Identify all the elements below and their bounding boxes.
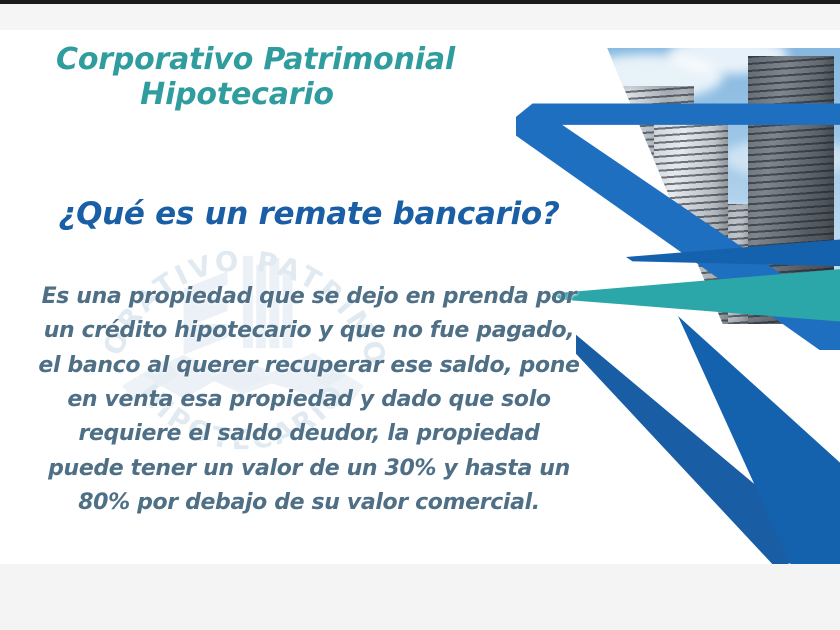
cloud-shape: [539, 114, 649, 148]
cloud-shape: [573, 54, 723, 100]
top-gutter: [0, 4, 840, 30]
building-tower: [748, 56, 834, 324]
body-line: puede tener un valor de un 30% y hasta u…: [6, 452, 612, 486]
diagonal-band-blue-upper: [626, 230, 840, 284]
headline-question: ¿Qué es un remate bancario?: [0, 196, 618, 232]
cloud-shape: [628, 204, 788, 252]
body-paragraph: Es una propiedad que se dejo en prenda p…: [6, 280, 612, 520]
image-viewer: CORPORATIVO PATRIMONIAL HIPOTECARIO Corp…: [0, 0, 840, 630]
promotional-flyer: CORPORATIVO PATRIMONIAL HIPOTECARIO Corp…: [0, 30, 840, 564]
brand-name: Corporativo Patrimonial Hipotecario: [52, 42, 522, 112]
body-line: un crédito hipotecario y que no fue paga…: [6, 314, 612, 348]
body-line: 80% por debajo de su valor comercial.: [6, 486, 612, 520]
body-line: Es una propiedad que se dejo en prenda p…: [6, 280, 612, 314]
diagonal-band-blue-lower: [576, 330, 840, 564]
building-tower: [654, 114, 728, 324]
diagonal-band-blue-corner: [678, 316, 840, 564]
bottom-gutter: [0, 564, 840, 630]
brand-name-line-1: Corporativo Patrimonial: [52, 42, 522, 77]
brand-name-line-2: Hipotecario: [52, 77, 522, 112]
cloud-shape: [723, 138, 840, 178]
body-line: requiere el saldo deudor, la propiedad: [6, 417, 612, 451]
body-line: el banco al querer recuperar ese saldo, …: [6, 349, 612, 383]
cloud-shape: [668, 36, 788, 74]
body-line: en venta esa propiedad y dado que solo: [6, 383, 612, 417]
building-tower: [718, 204, 752, 324]
